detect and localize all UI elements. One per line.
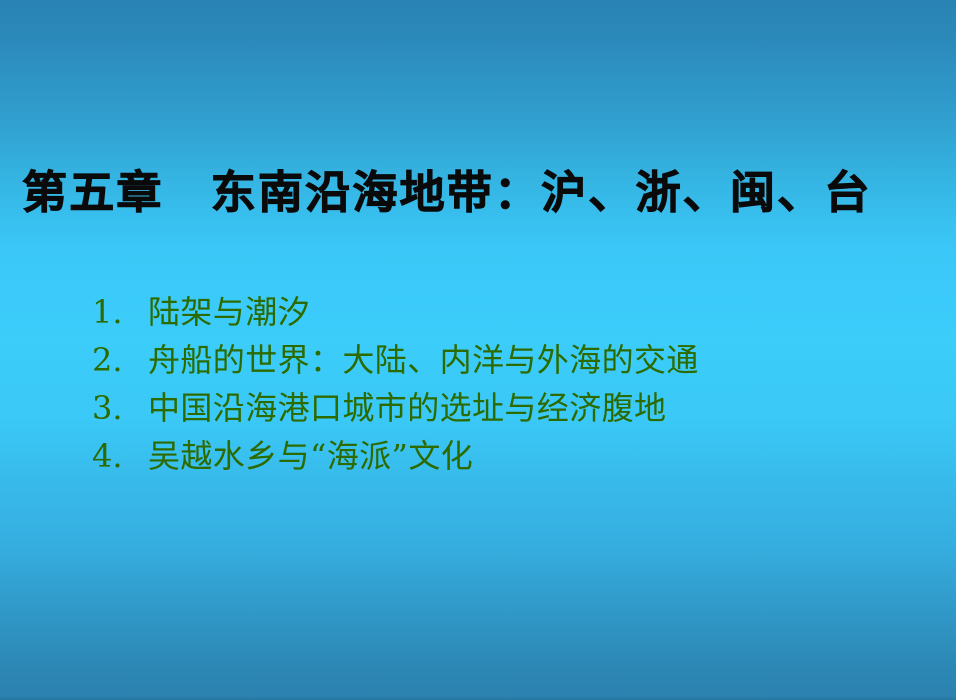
list-item-number: 4. [92,432,148,480]
list-item-label: 吴越水乡与“海派”文化 [148,432,473,480]
list-item: 1. 陆架与潮汐 [92,288,932,336]
page-title: 第五章 东南沿海地带：沪、浙、闽、台 [22,166,942,219]
list-item: 2. 舟船的世界：大陆、内洋与外海的交通 [92,336,932,384]
list-item-number: 3. [92,384,148,432]
list-item-number: 2. [92,336,148,384]
presentation-slide: 第五章 东南沿海地带：沪、浙、闽、台 1. 陆架与潮汐 2. 舟船的世界：大陆、… [0,0,956,700]
agenda-list: 1. 陆架与潮汐 2. 舟船的世界：大陆、内洋与外海的交通 3. 中国沿海港口城… [92,288,932,480]
list-item: 4. 吴越水乡与“海派”文化 [92,432,932,480]
list-item: 3. 中国沿海港口城市的选址与经济腹地 [92,384,932,432]
list-item-number: 1. [92,288,148,336]
list-item-label: 舟船的世界：大陆、内洋与外海的交通 [148,336,699,384]
slide-title-block: 第五章 东南沿海地带：沪、浙、闽、台 [22,166,942,219]
list-item-label: 中国沿海港口城市的选址与经济腹地 [148,384,666,432]
list-item-label: 陆架与潮汐 [148,288,310,336]
